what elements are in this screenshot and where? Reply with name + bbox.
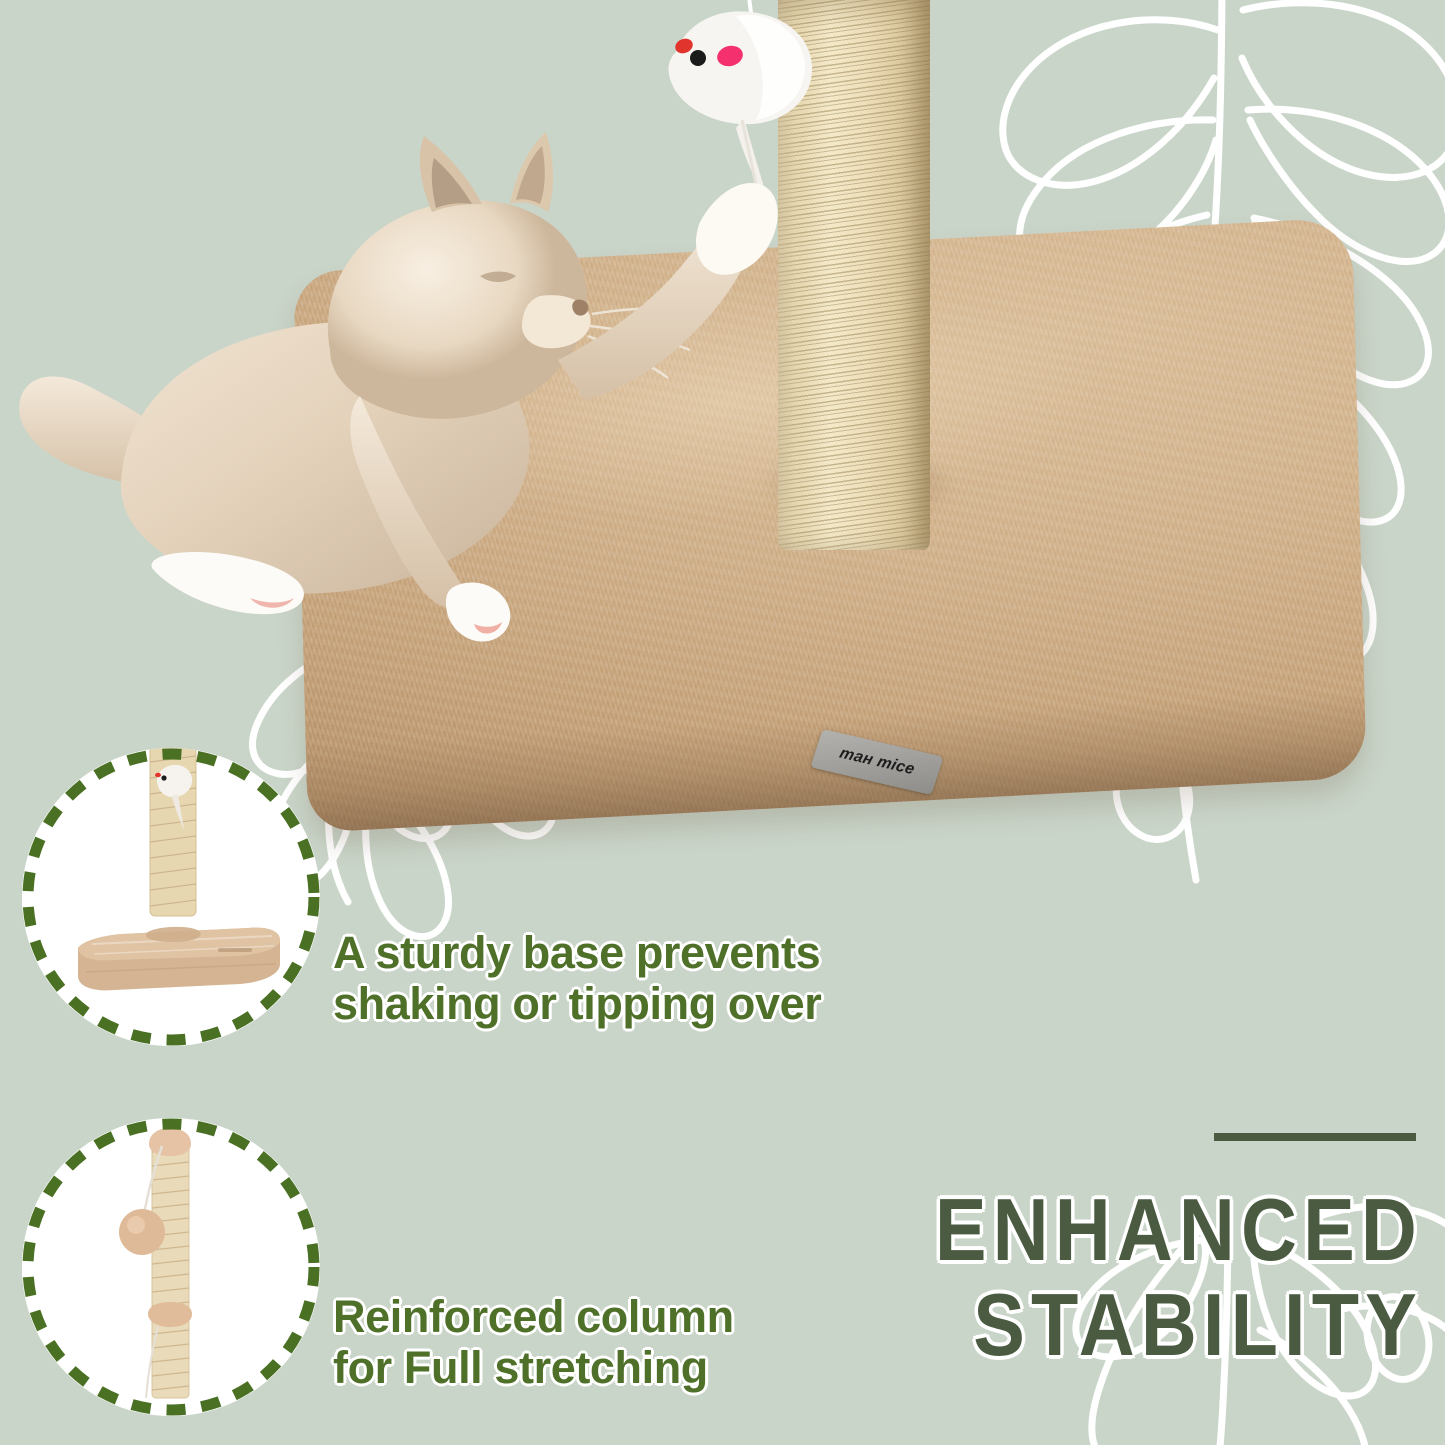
caption-reinforced-column-line-2: for Full stretching [333,1343,873,1394]
caption-sturdy-base-line-2: shaking or tipping over [333,979,973,1030]
headline-line-1: ENHANCED [807,1182,1423,1277]
kitten-photo [0,100,780,720]
headline: ENHANCED STABILITY [807,1182,1423,1372]
inset-sturdy-base [22,748,320,1046]
inset-reinforced-column [22,1118,320,1416]
headline-line-2: STABILITY [807,1277,1423,1372]
headline-rule [1214,1133,1416,1141]
caption-sturdy-base-line-1: A sturdy base prevents [333,928,973,979]
product-feature-banner: maн mice [0,0,1445,1445]
caption-reinforced-column-line-1: Reinforced column [333,1292,873,1343]
brand-tag-label: maн mice [837,745,917,779]
caption-sturdy-base: A sturdy base prevents shaking or tippin… [333,928,973,1030]
caption-reinforced-column: Reinforced column for Full stretching [333,1292,873,1394]
